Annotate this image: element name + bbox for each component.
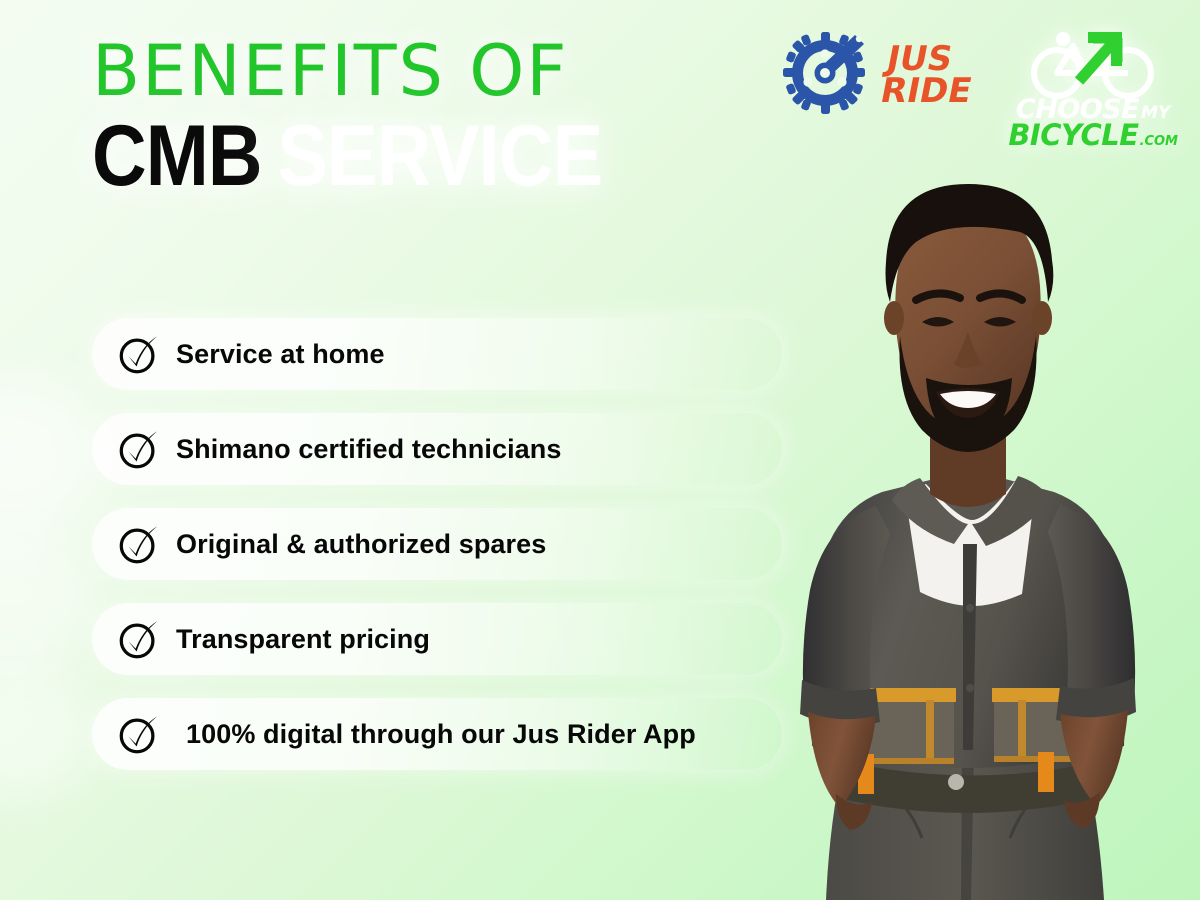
decorative-blob xyxy=(0,520,100,670)
pocket-stitch-left xyxy=(926,700,934,758)
cmb-word-com: .COM xyxy=(1140,136,1178,148)
list-item-label: 100% digital through our Jus Rider App xyxy=(186,719,696,750)
check-circle-icon xyxy=(116,521,162,567)
headline-word-service: SERVICE xyxy=(278,108,603,204)
list-item: Shimano certified technicians xyxy=(92,413,782,485)
belt-loop-right xyxy=(1038,752,1054,792)
choose-my-bicycle-logo: CHOOSE MY BICYCLE .COM xyxy=(1008,26,1178,149)
list-item-label: Original & authorized spares xyxy=(176,529,546,560)
cmb-word-bicycle: BICYCLE xyxy=(1008,122,1138,149)
decorative-blob xyxy=(0,660,100,800)
ear-right xyxy=(1032,301,1052,335)
logo-group: JUS RIDE CHOOSE MY xyxy=(778,26,1178,149)
pocket-stitch-right xyxy=(1018,700,1026,756)
check-circle-icon xyxy=(116,711,162,757)
list-item: Transparent pricing xyxy=(92,603,782,675)
list-item: Service at home xyxy=(92,318,782,390)
page-title: BENEFITS OF CMBSERVICE xyxy=(92,38,672,199)
jus-ride-line-2: RIDE xyxy=(878,76,974,108)
chainring-crank-icon xyxy=(778,26,878,126)
check-circle-icon xyxy=(116,426,162,472)
list-item-label: Service at home xyxy=(176,339,385,370)
poster-canvas: BENEFITS OF CMBSERVICE xyxy=(0,0,1200,900)
placket-button xyxy=(966,684,974,692)
list-item: 100% digital through our Jus Rider App xyxy=(92,698,782,770)
headline-word-cmb: CMB xyxy=(92,108,262,204)
headline-line-2: CMBSERVICE xyxy=(92,113,602,199)
jus-ride-logo: JUS RIDE xyxy=(778,26,974,126)
jus-ride-wordmark: JUS RIDE xyxy=(878,44,981,108)
cmb-word-my: MY xyxy=(1141,106,1170,122)
headline-line-1: BENEFITS OF xyxy=(92,38,672,105)
technician-photo xyxy=(730,140,1200,900)
belt-snap xyxy=(948,774,964,790)
list-item-label: Transparent pricing xyxy=(176,624,430,655)
choose-my-bicycle-wordmark: CHOOSE MY BICYCLE .COM xyxy=(1008,98,1178,149)
check-circle-icon xyxy=(116,616,162,662)
cmb-wordmark-row-2: BICYCLE .COM xyxy=(1008,122,1178,149)
list-item: Original & authorized spares xyxy=(92,508,782,580)
ear-left xyxy=(884,301,904,335)
benefits-list: Service at home Shimano certified techni… xyxy=(92,318,782,793)
check-circle-icon xyxy=(116,331,162,377)
placket-button xyxy=(966,604,974,612)
bicycle-arrow-icon xyxy=(1027,26,1159,100)
list-item-label: Shimano certified technicians xyxy=(176,434,562,465)
